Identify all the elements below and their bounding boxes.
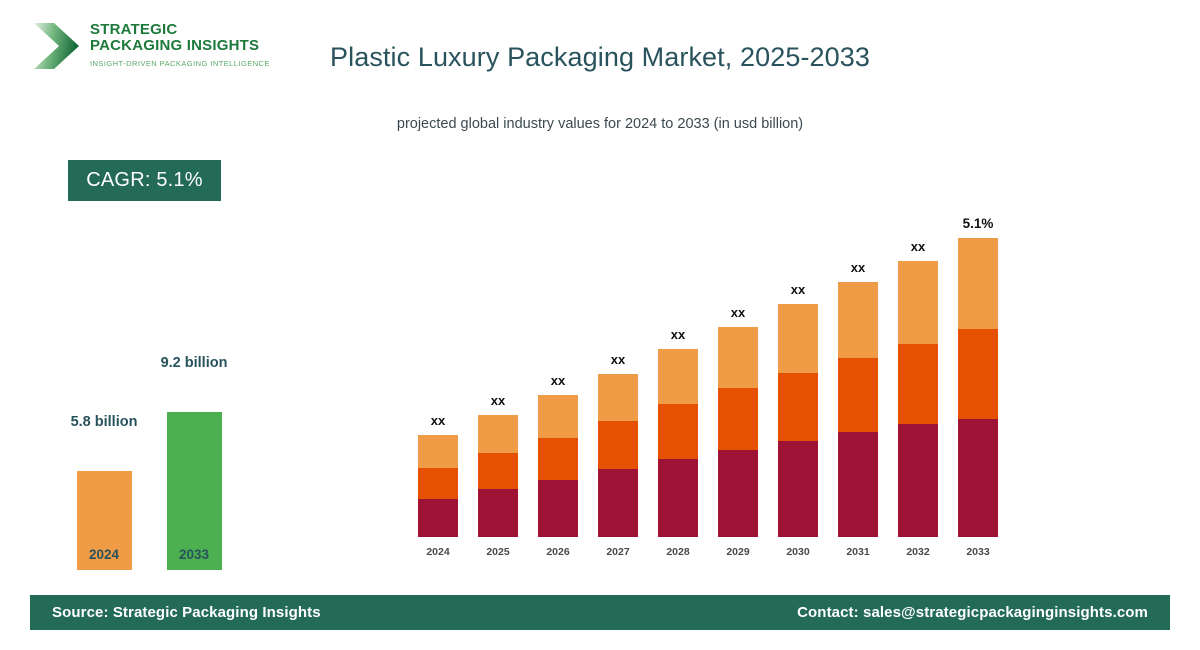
page-title: Plastic Luxury Packaging Market, 2025-20…: [0, 42, 1200, 73]
stacked-bar-segment: [538, 480, 578, 537]
stacked-bar-segment: [658, 349, 698, 404]
footer-bar: Source: Strategic Packaging Insights Con…: [30, 595, 1170, 630]
comparison-bar-value: 9.2 billion: [114, 355, 274, 371]
stacked-bar-segment: [958, 419, 998, 537]
stacked-bar-segment: [538, 395, 578, 438]
stacked-bar-segment: [478, 489, 518, 537]
footer-source: Source: Strategic Packaging Insights: [52, 604, 321, 621]
stacked-bar-segment: [598, 469, 638, 537]
stacked-bar-segment: [838, 358, 878, 432]
stacked-bar: [658, 349, 698, 537]
cagr-badge: CAGR: 5.1%: [68, 160, 221, 201]
stacked-bar: [898, 261, 938, 537]
stacked-bar-label: xx: [883, 239, 953, 254]
brand-name-line1: STRATEGIC: [90, 22, 270, 38]
stacked-bar: [598, 374, 638, 537]
stacked-bar-segment: [418, 435, 458, 468]
stacked-bar-segment: [598, 374, 638, 421]
stacked-bar-segment: [778, 304, 818, 373]
stacked-bar-segment: [718, 450, 758, 537]
stacked-bar-label: 5.1%: [943, 216, 1013, 231]
stacked-bar-segment: [838, 432, 878, 537]
stacked-bar-segment: [418, 468, 458, 499]
comparison-bar-value: 5.8 billion: [24, 414, 184, 430]
endpoint-comparison-chart: 5.8 billion20249.2 billion2033: [55, 320, 285, 570]
stacked-bar-segment: [958, 329, 998, 419]
stacked-bar-segment: [658, 404, 698, 459]
stacked-forecast-chart: xx2024xx2025xx2026xx2027xx2028xx2029xx20…: [400, 180, 1020, 560]
stacked-bar-segment: [898, 261, 938, 344]
stacked-bar: [838, 282, 878, 537]
footer-contact[interactable]: Contact: sales@strategicpackaginginsight…: [797, 604, 1148, 621]
stacked-bar-year: 2033: [943, 546, 1013, 558]
stacked-bar-segment: [418, 499, 458, 537]
stacked-bar-segment: [778, 441, 818, 537]
stacked-bar-label: xx: [763, 282, 833, 297]
stacked-bar: [718, 327, 758, 537]
stacked-bar-label: xx: [643, 327, 713, 342]
stacked-bar-label: xx: [403, 413, 473, 428]
stacked-bar-label: xx: [523, 373, 593, 388]
page-subtitle: projected global industry values for 202…: [0, 116, 1200, 132]
stacked-bar-label: xx: [463, 393, 533, 408]
stacked-bar-segment: [478, 415, 518, 453]
stacked-bar: [958, 238, 998, 537]
infographic-canvas: STRATEGIC PACKAGING INSIGHTS INSIGHT-DRI…: [0, 0, 1200, 650]
stacked-bar-segment: [478, 453, 518, 489]
comparison-bar-year: 2033: [154, 547, 234, 562]
stacked-bar-segment: [958, 238, 998, 329]
stacked-bar: [778, 304, 818, 537]
stacked-bar-segment: [838, 282, 878, 358]
stacked-bar-label: xx: [703, 305, 773, 320]
stacked-bar: [418, 435, 458, 537]
stacked-bar-label: xx: [823, 260, 893, 275]
stacked-bar-segment: [718, 388, 758, 450]
stacked-bar: [478, 415, 518, 537]
comparison-bar-year: 2024: [64, 547, 144, 562]
stacked-bar: [538, 395, 578, 537]
stacked-bar-segment: [898, 344, 938, 424]
stacked-bar-segment: [778, 373, 818, 441]
stacked-bar-segment: [898, 424, 938, 537]
stacked-bar-segment: [538, 438, 578, 480]
stacked-bar-segment: [658, 459, 698, 537]
stacked-bar-segment: [598, 421, 638, 469]
stacked-bar-label: xx: [583, 352, 653, 367]
stacked-bar-segment: [718, 327, 758, 388]
